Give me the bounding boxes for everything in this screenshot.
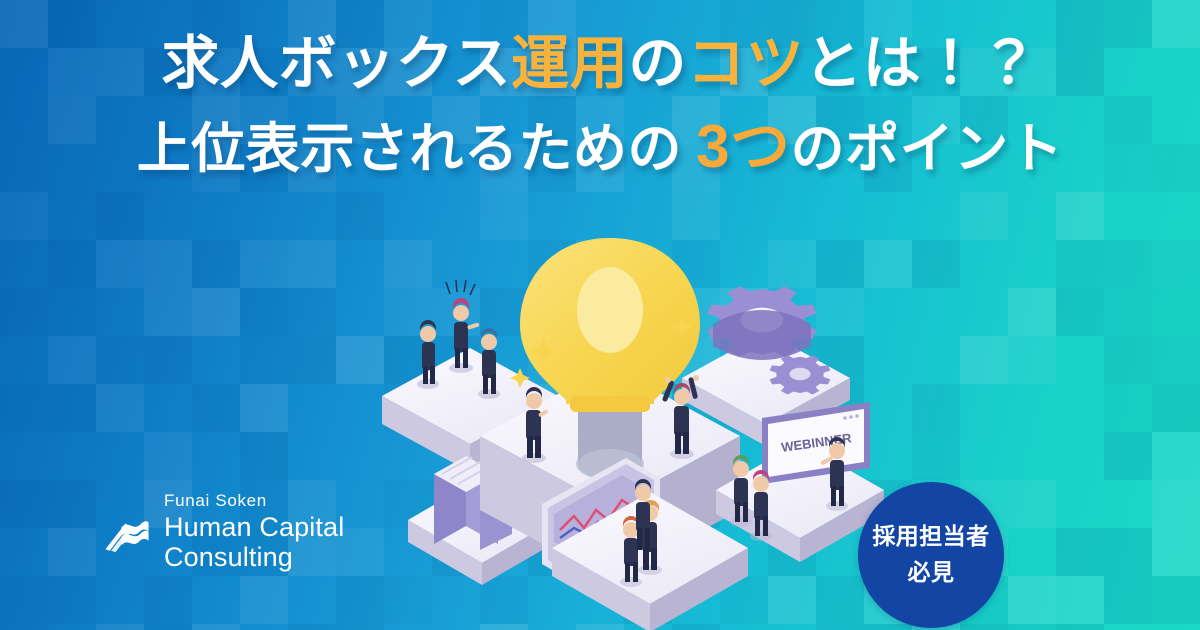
headline-l1-seg1: 求人ボックス (161, 31, 511, 96)
badge-line-1: 採用担当者 (872, 519, 989, 555)
headline-number: 3 (696, 113, 730, 180)
headline-l1-seg2: の (628, 31, 687, 96)
gear-large (707, 286, 817, 360)
headline-l1-highlight-2: コツ (687, 31, 804, 96)
badge-line-2: 必見 (908, 555, 955, 591)
wave-mark-icon (104, 509, 150, 555)
headline-l2-seg2: のポイント (791, 119, 1064, 179)
status-badge: 採用担当者 必見 (858, 482, 1004, 628)
banner-root: WEBINNER (0, 0, 1200, 630)
logo-line-3: Consulting (164, 544, 344, 571)
headline-block: 求人ボックス運用のコツとは！？ 上位表示されるための3つのポイント (0, 28, 1200, 184)
headline-line-1: 求人ボックス運用のコツとは！？ (0, 28, 1200, 100)
headline-counter: つ (730, 113, 791, 180)
headline-line-2: 上位表示されるための3つのポイント (0, 112, 1200, 184)
isometric-illustration: WEBINNER (330, 228, 890, 628)
logo-line-1: Funai Soken (164, 492, 344, 509)
logo-line-2: Human Capital (164, 514, 344, 541)
headline-l2-seg1: 上位表示されるための (137, 119, 682, 179)
logo-text: Funai Soken Human Capital Consulting (164, 492, 344, 571)
headline-l1-highlight-1: 運用 (511, 31, 628, 96)
headline-l1-seg3: とは！？ (804, 31, 1038, 96)
brand-logo: Funai Soken Human Capital Consulting (104, 492, 344, 571)
